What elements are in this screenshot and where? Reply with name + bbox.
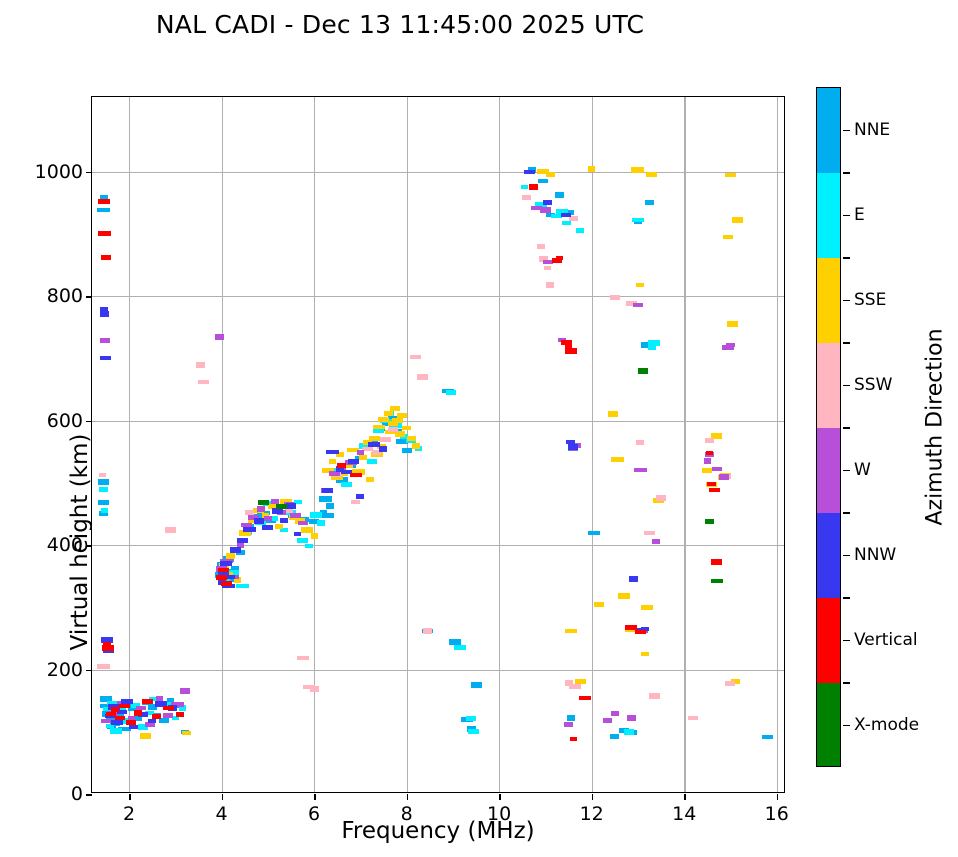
echo-mark — [373, 425, 385, 429]
echo-mark — [100, 311, 109, 317]
echo-mark — [182, 731, 191, 735]
colorbar-boundary-tick — [843, 257, 850, 259]
x-gridline — [129, 97, 130, 792]
echo-mark — [543, 200, 552, 205]
echo-mark — [631, 167, 644, 173]
y-gridline — [92, 545, 784, 546]
echo-mark — [562, 221, 571, 225]
ionogram-page: NAL CADI - Dec 13 11:45:00 2025 UTC Virt… — [0, 0, 958, 857]
echo-mark — [565, 629, 577, 633]
echo-mark — [588, 531, 600, 535]
echo-mark — [236, 584, 249, 588]
x-tick — [314, 794, 316, 800]
echo-mark — [350, 473, 362, 477]
y-gridline — [92, 670, 784, 671]
echo-mark — [243, 527, 256, 532]
echo-mark — [546, 282, 554, 288]
echo-mark — [119, 704, 130, 708]
echo-mark — [310, 512, 322, 518]
echo-mark — [317, 520, 325, 526]
echo-mark — [656, 495, 666, 501]
echo-mark — [276, 504, 287, 509]
echo-mark — [688, 716, 698, 720]
echo-mark — [310, 686, 319, 692]
echo-mark — [254, 518, 264, 524]
echo-mark — [221, 581, 232, 586]
echo-mark — [305, 544, 313, 548]
y-tick-label: 800 — [0, 285, 83, 307]
echo-mark — [410, 355, 421, 359]
y-tick — [86, 670, 92, 672]
echo-mark — [258, 500, 269, 505]
echo-mark — [648, 340, 660, 346]
echo-mark — [546, 172, 555, 177]
echo-mark — [322, 488, 333, 493]
echo-mark — [417, 374, 428, 380]
echo-mark — [280, 518, 288, 523]
echo-mark — [576, 228, 584, 233]
y-tick-label: 400 — [0, 534, 83, 556]
echo-mark — [641, 605, 653, 610]
y-gridline — [92, 172, 784, 173]
echo-mark — [712, 467, 722, 471]
colorbar-boundary-tick — [843, 172, 850, 174]
echo-mark — [218, 568, 229, 572]
colorbar-boundary-tick — [843, 597, 850, 599]
echo-mark — [709, 488, 720, 492]
echo-mark — [569, 684, 581, 689]
echo-mark — [402, 426, 411, 430]
echo-mark — [618, 593, 630, 599]
echo-mark — [397, 413, 407, 418]
echo-mark — [390, 406, 400, 411]
echo-mark — [725, 681, 735, 686]
colorbar-label-nnw: NNW — [854, 545, 896, 565]
echo-mark — [380, 437, 391, 442]
echo-mark — [705, 519, 714, 524]
echo-mark — [180, 688, 190, 694]
echo-mark — [392, 418, 403, 423]
echo-mark — [367, 459, 377, 464]
echo-mark — [468, 729, 479, 734]
y-tick-label: 1000 — [0, 161, 83, 183]
colorbar-tick — [843, 725, 850, 727]
echo-mark — [522, 195, 531, 200]
echo-mark — [152, 714, 161, 719]
colorbar-tick — [843, 640, 850, 642]
echo-mark — [163, 706, 174, 710]
colorbar-label-x-mode: X-mode — [854, 715, 919, 735]
colorbar-segment-e[interactable] — [817, 173, 840, 258]
echo-mark — [732, 217, 743, 223]
y-tick-label: 0 — [0, 783, 83, 805]
echo-mark — [565, 348, 577, 354]
echo-mark — [706, 451, 713, 455]
echo-mark — [624, 729, 634, 735]
echo-mark — [297, 656, 309, 660]
echo-mark — [99, 473, 106, 477]
echo-mark — [644, 531, 655, 535]
y-tick — [86, 545, 92, 547]
colorbar-boundary-tick — [843, 682, 850, 684]
echo-mark — [564, 722, 573, 727]
echo-mark — [100, 195, 108, 199]
echo-mark — [348, 459, 359, 464]
echo-mark — [711, 559, 722, 565]
echo-mark — [294, 532, 301, 536]
echo-mark — [357, 450, 364, 455]
echo-mark — [100, 356, 111, 360]
x-tick — [777, 794, 779, 800]
colorbar-segment-nne[interactable] — [817, 88, 840, 173]
echo-mark — [379, 446, 387, 452]
echo-mark — [198, 380, 209, 384]
echo-mark — [230, 547, 241, 553]
x-axis-title: Frequency (MHz) — [91, 818, 785, 844]
echo-mark — [341, 482, 352, 487]
echo-mark — [603, 718, 612, 723]
colorbar-segment-sse[interactable] — [817, 258, 840, 343]
colorbar-label-sse: SSE — [854, 290, 886, 310]
echo-mark — [98, 500, 109, 505]
echo-mark — [726, 343, 735, 347]
echo-mark — [115, 716, 125, 720]
echo-mark — [723, 235, 733, 239]
echo-mark — [257, 506, 265, 512]
echo-mark — [275, 524, 283, 529]
colorbar-tick — [843, 215, 850, 217]
echo-mark — [226, 575, 235, 579]
echo-mark — [101, 508, 108, 513]
echo-mark — [611, 457, 624, 462]
echo-mark — [704, 458, 711, 464]
echo-mark — [561, 213, 571, 217]
echo-mark — [126, 720, 136, 725]
echo-mark — [329, 459, 336, 464]
echo-mark — [446, 390, 456, 395]
x-gridline — [684, 97, 685, 792]
echo-mark — [326, 503, 334, 509]
x-tick — [684, 794, 686, 800]
echo-mark — [165, 527, 176, 533]
echo-mark — [148, 719, 156, 723]
x-gridline — [499, 97, 500, 792]
echo-mark — [649, 693, 660, 699]
echo-mark — [220, 561, 232, 566]
x-tick — [129, 794, 131, 800]
colorbar-label-vertical: Vertical — [854, 630, 918, 650]
echo-mark — [159, 718, 169, 723]
colorbar-segment-nnw[interactable] — [817, 513, 840, 598]
colorbar-tick — [843, 470, 850, 472]
colorbar-tick — [843, 130, 850, 132]
echo-mark — [629, 576, 638, 582]
colorbar-segment-vertical[interactable] — [817, 598, 840, 683]
echo-mark — [529, 184, 538, 190]
echo-mark — [99, 487, 108, 492]
echo-mark — [134, 710, 142, 716]
colorbar-segment-x-mode[interactable] — [817, 683, 840, 767]
echo-mark — [423, 628, 432, 634]
colorbar-label-e: E — [854, 205, 865, 225]
echo-mark — [646, 172, 657, 177]
echo-mark — [101, 255, 111, 260]
echo-mark — [555, 192, 564, 198]
echo-mark — [636, 283, 644, 287]
echo-mark — [356, 494, 364, 499]
y-tick — [86, 172, 92, 174]
echo-mark — [129, 725, 138, 729]
echo-mark — [98, 479, 109, 485]
echo-mark — [538, 179, 548, 183]
y-gridline — [92, 421, 784, 422]
echo-mark — [627, 715, 636, 721]
colorbar-title: Azimuth Direction — [923, 328, 948, 525]
echo-mark — [163, 713, 173, 718]
y-gridline — [92, 296, 784, 297]
echo-mark — [271, 516, 278, 521]
echo-mark — [176, 712, 184, 717]
echo-mark — [652, 539, 660, 544]
echo-mark — [97, 208, 110, 212]
plot-area: Virtual height (km) 24681012141602004006… — [91, 96, 785, 793]
echo-mark — [298, 521, 308, 525]
echo-mark — [570, 737, 577, 741]
echo-mark — [635, 630, 646, 634]
y-tick-label: 600 — [0, 410, 83, 432]
echo-mark — [725, 173, 736, 177]
data-canvas — [92, 97, 784, 792]
echo-mark — [111, 720, 123, 725]
echo-mark — [762, 735, 773, 739]
echo-mark — [264, 516, 272, 521]
echo-mark — [319, 496, 332, 502]
y-tick — [86, 794, 92, 796]
echo-mark — [102, 645, 114, 651]
echo-mark — [286, 503, 296, 509]
echo-mark — [366, 477, 374, 482]
echo-mark — [521, 185, 528, 189]
x-gridline — [222, 97, 223, 792]
echo-mark — [641, 652, 649, 656]
echo-mark — [537, 244, 545, 249]
colorbar-tick — [843, 300, 850, 302]
echo-mark — [544, 266, 551, 270]
echo-mark — [636, 440, 644, 445]
y-tick — [86, 421, 92, 423]
echo-mark — [610, 734, 619, 739]
echo-mark — [384, 411, 393, 416]
echo-mark — [388, 427, 398, 432]
echo-mark — [727, 321, 738, 327]
echo-mark — [237, 538, 248, 543]
colorbar-boundary-tick — [843, 427, 850, 429]
echo-mark — [359, 455, 367, 460]
echo-mark — [412, 443, 420, 449]
colorbar-label-nne: NNE — [854, 120, 890, 140]
echo-mark — [262, 525, 273, 530]
echo-mark — [337, 463, 346, 468]
echo-mark — [290, 513, 301, 518]
echo-mark — [297, 538, 308, 543]
page-title: NAL CADI - Dec 13 11:45:00 2025 UTC — [0, 10, 800, 39]
echo-mark — [215, 334, 224, 340]
echo-mark — [471, 682, 482, 688]
echo-mark — [100, 338, 110, 343]
echo-mark — [368, 442, 380, 447]
echo-mark — [719, 474, 729, 480]
echo-mark — [568, 444, 578, 450]
echo-mark — [638, 368, 648, 374]
echo-mark — [311, 533, 318, 539]
echo-mark — [402, 448, 412, 453]
echo-mark — [556, 256, 563, 260]
echo-mark — [524, 170, 535, 174]
echo-mark — [97, 664, 110, 669]
colorbar[interactable] — [816, 87, 841, 767]
echo-mark — [625, 625, 637, 630]
echo-mark — [140, 733, 151, 739]
x-gridline — [592, 97, 593, 792]
echo-mark — [633, 303, 643, 307]
colorbar-tick — [843, 385, 850, 387]
echo-mark — [322, 513, 334, 518]
echo-mark — [142, 699, 153, 704]
echo-mark — [216, 575, 227, 580]
echo-mark — [645, 200, 654, 205]
echo-mark — [98, 231, 111, 236]
echo-mark — [707, 482, 716, 486]
x-tick — [407, 794, 409, 800]
y-tick-label: 200 — [0, 659, 83, 681]
echo-mark — [594, 602, 604, 607]
echo-mark — [454, 645, 466, 650]
echo-mark — [611, 711, 619, 716]
echo-mark — [632, 218, 644, 222]
echo-mark — [610, 295, 620, 300]
colorbar-label-w: W — [854, 460, 871, 480]
colorbar-boundary-tick — [843, 342, 850, 344]
colorbar-tick — [843, 555, 850, 557]
echo-mark — [705, 438, 714, 443]
x-tick — [499, 794, 501, 800]
echo-mark — [579, 696, 591, 700]
x-tick — [222, 794, 224, 800]
echo-mark — [466, 716, 476, 721]
y-tick — [86, 296, 92, 298]
echo-mark — [540, 207, 551, 213]
echo-mark — [711, 579, 723, 583]
echo-mark — [351, 500, 360, 504]
echo-mark — [98, 199, 110, 204]
x-tick — [592, 794, 594, 800]
echo-mark — [326, 450, 339, 454]
colorbar-segment-ssw[interactable] — [817, 343, 840, 428]
echo-mark — [110, 728, 122, 734]
echo-mark — [634, 468, 647, 472]
echo-mark — [196, 362, 205, 368]
echo-mark — [588, 166, 595, 172]
colorbar-label-ssw: SSW — [854, 375, 892, 395]
colorbar-segment-w[interactable] — [817, 428, 840, 513]
colorbar-boundary-tick — [843, 512, 850, 514]
echo-mark — [608, 411, 618, 417]
echo-mark — [369, 436, 380, 441]
x-gridline — [407, 97, 408, 792]
echo-mark — [567, 715, 575, 721]
echo-mark — [407, 436, 416, 441]
x-gridline — [777, 97, 778, 792]
